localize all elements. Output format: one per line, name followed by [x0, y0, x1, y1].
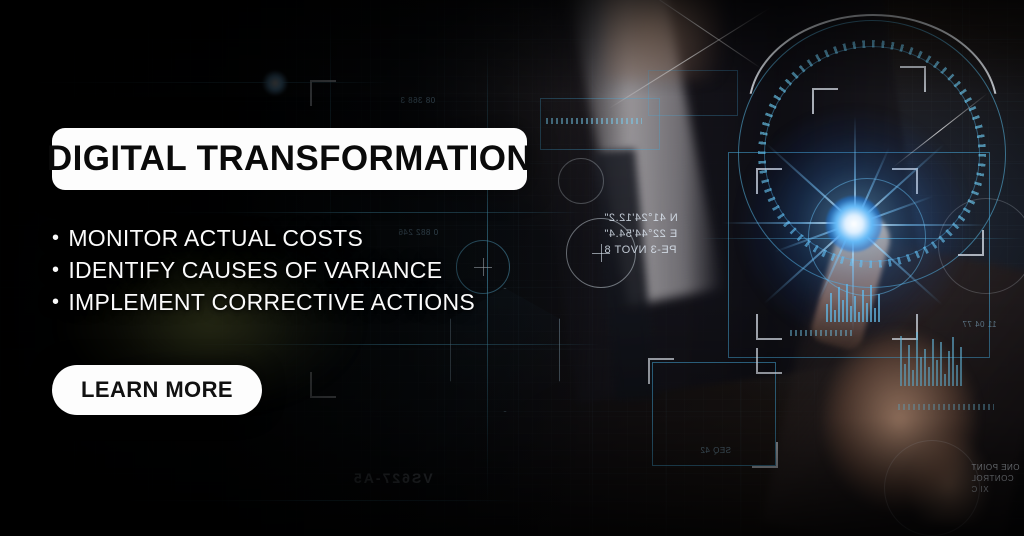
learn-more-button[interactable]: LEARN MORE [52, 365, 262, 415]
list-item: MONITOR ACTUAL COSTS [52, 222, 475, 254]
page-title: DIGITAL TRANSFORMATION [52, 128, 527, 190]
page-title-text: DIGITAL TRANSFORMATION [47, 139, 532, 179]
list-item: IDENTIFY CAUSES OF VARIANCE [52, 254, 475, 286]
digital-transformation-banner: 0 882 246 08 368 3 11 04 77 SEQ 42 [0, 0, 1024, 536]
feature-list: MONITOR ACTUAL COSTS IDENTIFY CAUSES OF … [52, 222, 475, 318]
learn-more-label: LEARN MORE [81, 377, 233, 403]
list-item: IMPLEMENT CORRECTIVE ACTIONS [52, 286, 475, 318]
